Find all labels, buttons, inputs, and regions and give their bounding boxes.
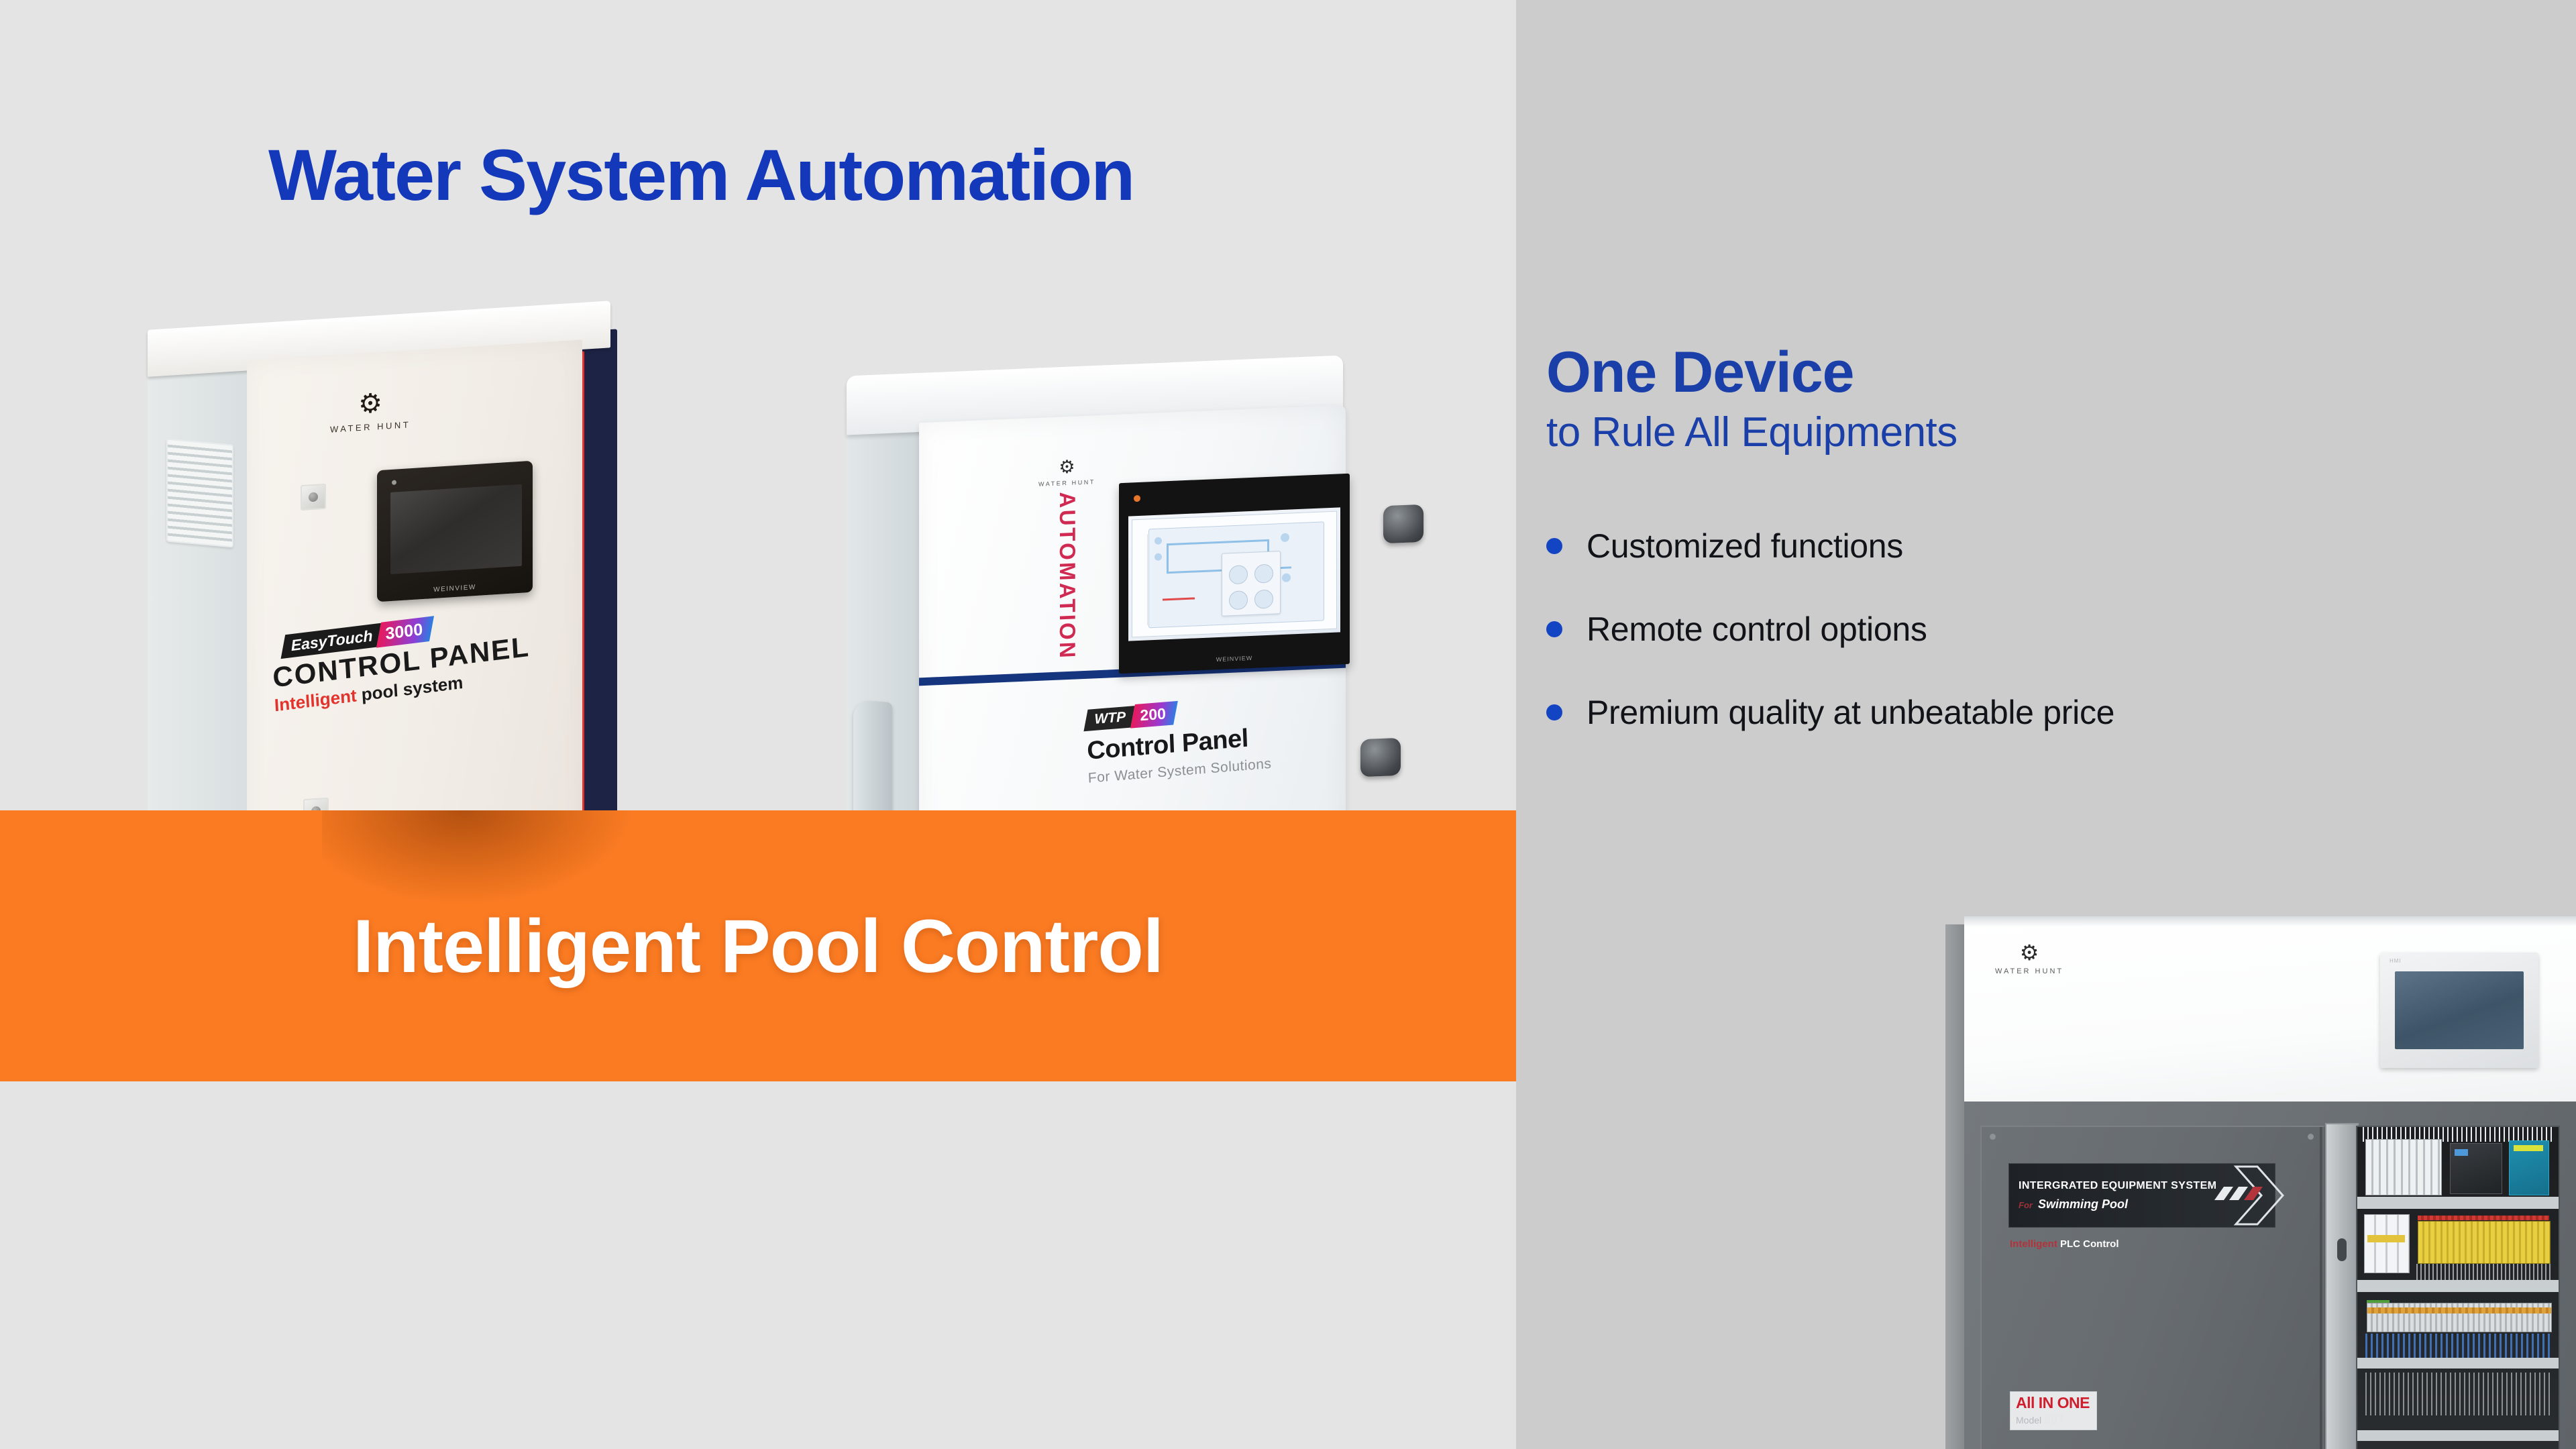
list-item: Customized functions	[1546, 527, 2512, 566]
shield-logo-icon: ⚙	[1995, 942, 2063, 963]
door-latch-icon[interactable]	[2337, 1238, 2347, 1261]
popup-button[interactable]	[1254, 590, 1273, 609]
door-screw-icon	[2308, 1134, 2314, 1140]
model-label: Model	[2016, 1415, 2041, 1426]
cabinet-system-banner: INTERGRATED EQUIPMENT SYSTEM ForSwimming…	[2008, 1163, 2275, 1228]
terminal-block	[2367, 1303, 2552, 1332]
hmi-brand-label: WEINVIEW	[1119, 651, 1350, 667]
hmi-screen-surface[interactable]	[1128, 507, 1340, 641]
valve-icon	[1155, 537, 1162, 545]
bullet-dot-icon	[1546, 621, 1562, 637]
bullet-label: Customized functions	[1587, 527, 1903, 566]
page-title: Water System Automation	[268, 133, 1134, 217]
bullet-label: Remote control options	[1587, 610, 1927, 649]
alarm-banner	[1163, 597, 1195, 600]
cabinet-open-door[interactable]	[2325, 1123, 2359, 1449]
right-heading-bold: One Device	[1546, 343, 2512, 401]
cabinet-banner-subject: Swimming Pool	[2038, 1197, 2128, 1211]
shield-logo-icon: ⚙	[330, 388, 411, 420]
door-screw-icon	[1990, 1134, 1996, 1140]
cabinet-plc-accent: Intelligent	[2010, 1238, 2057, 1250]
filter-icon	[1282, 573, 1291, 582]
ventilation-louver-icon	[166, 438, 233, 547]
pipe-segment	[1167, 543, 1169, 573]
list-item: Remote control options	[1546, 610, 2512, 649]
hmi-touchscreen-cabinet[interactable]: HMI	[2380, 953, 2538, 1068]
badge-number-label: 3000	[385, 620, 423, 644]
hmi-touchscreen-panel-one[interactable]: WEINVIEW	[377, 461, 533, 602]
right-heading-regular: to Rule All Equipments	[1546, 411, 2512, 454]
hmi-screen-surface[interactable]	[390, 484, 522, 574]
hmi-brand-label: HMI	[2390, 958, 2402, 964]
hmi-window	[1132, 511, 1337, 638]
popup-button[interactable]	[1229, 590, 1248, 610]
din-rail	[2357, 1430, 2559, 1441]
badge-model-label: WTP	[1094, 709, 1126, 728]
power-supply-module	[2509, 1140, 2549, 1195]
model-value: 80T	[2044, 1413, 2065, 1426]
all-in-one-model: Model 80T	[2010, 1412, 2096, 1427]
popup-button[interactable]	[1254, 564, 1273, 584]
pipe-segment	[1167, 539, 1267, 545]
din-rail	[2357, 1197, 2559, 1209]
hmi-screen-surface[interactable]	[2395, 971, 2524, 1049]
cabinet-banner-line-2: ForSwimming Pool	[2019, 1197, 2216, 1212]
plc-module	[2450, 1143, 2502, 1194]
brand-logo-cabinet: ⚙ WATER HUNT	[1995, 942, 2063, 975]
fan-icon	[1281, 533, 1289, 543]
cabinet-banner-text: INTERGRATED EQUIPMENT SYSTEM ForSwimming…	[2009, 1180, 2216, 1212]
list-item: Premium quality at unbeatable price	[1546, 693, 2512, 732]
badge-number-label: 200	[1140, 704, 1166, 724]
relay-module-row	[2365, 1139, 2442, 1195]
brand-logo-panel-two: ⚙ WATER HUNT	[1038, 457, 1095, 488]
circuit-breaker-row	[2364, 1214, 2410, 1273]
power-led-icon	[392, 480, 396, 484]
brand-name-label: WATER HUNT	[1995, 967, 2063, 975]
feature-bullet-list: Customized functions Remote control opti…	[1546, 527, 2512, 732]
cabinet-interior-wiring	[2356, 1126, 2560, 1449]
hmi-left-menu[interactable]	[1135, 534, 1148, 626]
shield-logo-icon: ⚙	[1038, 457, 1095, 478]
wire-bundle	[2365, 1373, 2552, 1415]
hmi-schematic-view	[1128, 507, 1340, 641]
bullet-dot-icon	[1546, 538, 1562, 554]
cabinet-banner-prefix: For	[2019, 1200, 2033, 1210]
automation-vertical-label: AUTOMATION	[1055, 491, 1080, 660]
right-content-column: One Device to Rule All Equipments Custom…	[1546, 343, 2512, 776]
poster-stage: Water System Automation ⚙ WATER HUNT WEI…	[0, 0, 2576, 1449]
all-in-one-badge: All IN ONE Model 80T	[2010, 1391, 2097, 1430]
pump-icon	[1155, 553, 1162, 561]
bullet-dot-icon	[1546, 704, 1562, 720]
cabinet-plc-label: Intelligent PLC Control	[2010, 1238, 2119, 1250]
terminal-block	[2418, 1221, 2551, 1264]
bullet-label: Premium quality at unbeatable price	[1587, 693, 2114, 732]
popup-button[interactable]	[1229, 565, 1248, 584]
wire-bundle	[2418, 1216, 2549, 1220]
cabinet-top-bevel	[1964, 916, 2576, 927]
banner-caption: Intelligent Pool Control	[0, 810, 1516, 1081]
door-lock-upper[interactable]	[301, 484, 326, 511]
din-rail	[2357, 1358, 2559, 1368]
din-rail	[2357, 1280, 2559, 1292]
rotary-switch-upper[interactable]	[1383, 504, 1424, 544]
hmi-flow-diagram	[1148, 521, 1324, 628]
power-led-icon	[1134, 495, 1140, 502]
cabinet-banner-line-1: INTERGRATED EQUIPMENT SYSTEM	[2019, 1180, 2216, 1192]
all-in-one-title: All IN ONE	[2010, 1392, 2096, 1412]
hmi-popup-dialog[interactable]	[1222, 551, 1281, 616]
cabinet-plc-rest: PLC Control	[2060, 1238, 2119, 1250]
brand-logo-panel-one: ⚙ WATER HUNT	[330, 388, 411, 435]
hmi-touchscreen-panel-two[interactable]: WEINVIEW	[1119, 474, 1350, 674]
chevron-arrow-icon	[2213, 1161, 2294, 1230]
integrated-equipment-cabinet: ⚙ WATER HUNT HMI INTERGRATED EQUIPMENT S…	[1945, 892, 2576, 1449]
